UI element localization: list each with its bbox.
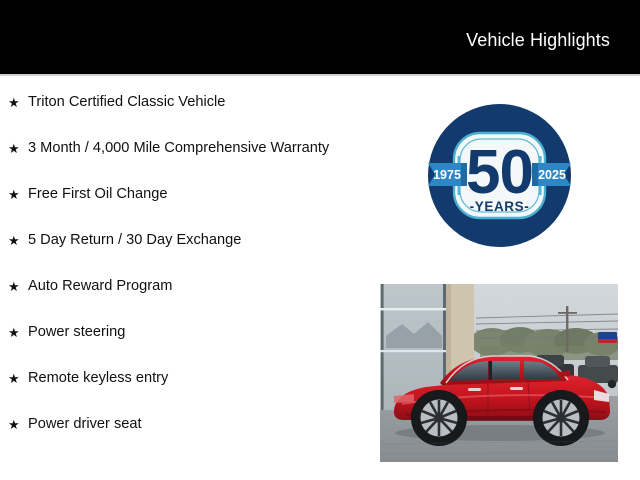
star-icon: ★ <box>8 322 28 343</box>
star-icon: ★ <box>8 276 28 297</box>
highlight-label: 3 Month / 4,000 Mile Comprehensive Warra… <box>28 138 352 159</box>
header-divider <box>0 74 640 76</box>
highlight-label: Free First Oil Change <box>28 184 352 205</box>
door-handle <box>510 387 523 390</box>
list-item: ★ Free First Oil Change <box>0 184 352 205</box>
list-item: ★ Triton Certified Classic Vehicle <box>0 92 352 113</box>
highlight-label: Power driver seat <box>28 414 352 435</box>
star-icon: ★ <box>8 184 28 205</box>
star-icon: ★ <box>8 230 28 251</box>
highlight-label: Remote keyless entry <box>28 368 352 389</box>
end-year-ribbon: 2025 <box>532 163 571 186</box>
star-icon: ★ <box>8 138 28 159</box>
vehicle-photo <box>380 284 618 462</box>
badge-years-label: -YEARS- <box>470 199 530 214</box>
anniversary-badge-logo: 1975 2025 50 -YEARS- <box>428 104 571 247</box>
page-title: Vehicle Highlights <box>466 29 610 51</box>
door-handle <box>468 388 481 391</box>
roadside-sign <box>598 332 617 343</box>
end-year-label: 2025 <box>538 168 566 182</box>
vehicle-highlights-list: ★ Triton Certified Classic Vehicle ★ 3 M… <box>0 92 352 460</box>
header-bar: Vehicle Highlights <box>0 0 640 74</box>
list-item: ★ Remote keyless entry <box>0 368 352 389</box>
list-item: ★ Auto Reward Program <box>0 276 352 297</box>
list-item: ★ 5 Day Return / 30 Day Exchange <box>0 230 352 251</box>
highlight-label: Auto Reward Program <box>28 276 352 297</box>
star-icon: ★ <box>8 414 28 435</box>
star-icon: ★ <box>8 92 28 113</box>
list-item: ★ Power driver seat <box>0 414 352 435</box>
rear-door-window <box>492 361 520 379</box>
highlight-label: 5 Day Return / 30 Day Exchange <box>28 230 352 251</box>
rear-wheel <box>411 390 467 446</box>
badge-number: 50 <box>466 138 533 207</box>
list-item: ★ 3 Month / 4,000 Mile Comprehensive War… <box>0 138 352 159</box>
start-year-label: 1975 <box>433 168 461 182</box>
start-year-ribbon: 1975 <box>428 163 467 186</box>
highlight-label: Triton Certified Classic Vehicle <box>28 92 352 113</box>
star-icon: ★ <box>8 368 28 389</box>
list-item: ★ Power steering <box>0 322 352 343</box>
front-wheel <box>533 390 589 446</box>
highlight-label: Power steering <box>28 322 352 343</box>
